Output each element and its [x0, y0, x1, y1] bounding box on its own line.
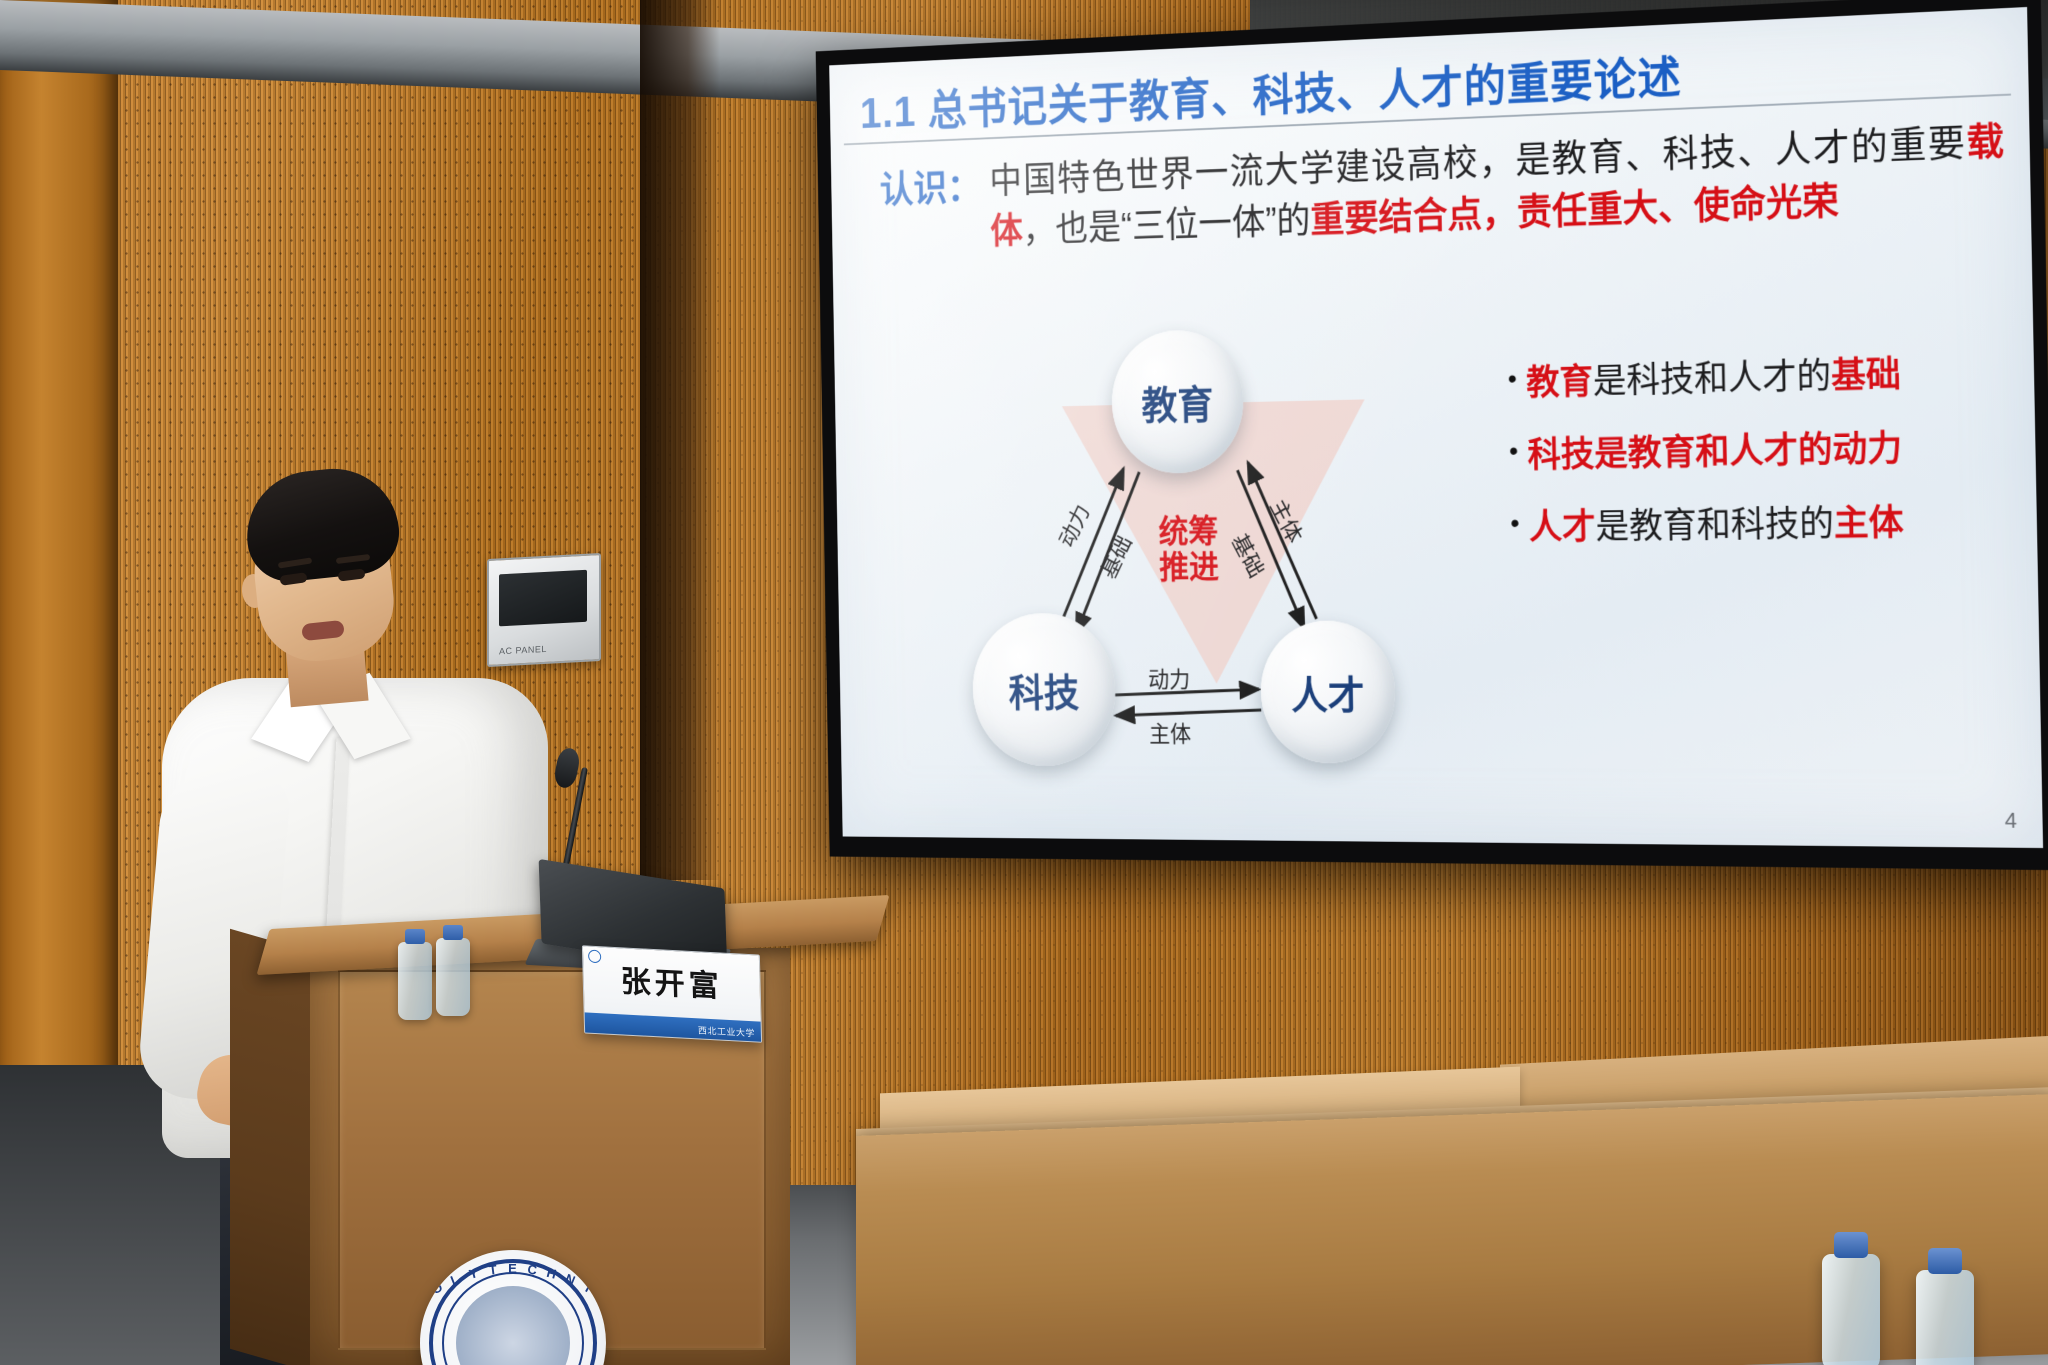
foreground-water-bottle[interactable]: [1822, 1254, 1880, 1365]
bottle-cap: [443, 925, 463, 940]
bullet-text: 科技是教育和人才的动力: [1527, 424, 1996, 477]
bullet-text: 教育是科技和人才的基础: [1526, 349, 1995, 404]
bullet-red-b: 基础: [1831, 354, 1901, 396]
nameplate-org: 西北工业大学: [698, 1023, 755, 1039]
bullet-dot: •: [1501, 506, 1529, 541]
display-bezel: 1.1 总书记关于教育、科技、人才的重要论述 认识： 中国特色世界一流大学建设高…: [816, 0, 2048, 870]
slide-keyword-label: 认识：: [879, 156, 981, 213]
bullet-dot: •: [1500, 433, 1528, 469]
edge-label-bottom-upper: 动力: [1148, 661, 1191, 694]
speaker-hair: [241, 462, 403, 585]
wall-shadow-column: [640, 0, 720, 880]
water-bottle[interactable]: [436, 938, 470, 1016]
center-label-line2: 推进: [1132, 550, 1247, 587]
body-plain-b: ，也是“三位一体”的: [1022, 200, 1310, 250]
slide-page-number: 4: [2005, 808, 2018, 834]
logo-text: NORTHWESTERN POLYTECHNICAL UNIVERSITY: [420, 1250, 606, 1365]
bullet-red-b: 主体: [1834, 502, 1904, 543]
foreground-water-bottle[interactable]: [1916, 1270, 1974, 1365]
podium-side-panel: [230, 929, 322, 1365]
bullet-item: • 人才是教育和科技的主体: [1501, 499, 1998, 550]
presentation-scene: AC PANEL 1.1 总书记关于教育、科技、人才的重要论述 认识： 中国特色…: [0, 0, 2048, 1365]
bottle-cap: [405, 929, 425, 944]
bullet-red-a: 人才: [1529, 507, 1596, 547]
triangle-relationship-diagram: 教育 科技 人才 统筹 推进 动力 基础 主体 基础: [960, 323, 1442, 773]
bottle-cap: [1928, 1248, 1962, 1274]
node-label-talent: 人才: [1291, 663, 1365, 720]
slide-surface: 1.1 总书记关于教育、科技、人才的重要论述 认识： 中国特色世界一流大学建设高…: [829, 7, 2043, 848]
lectern-podium: NORTHWESTERN POLYTECHNICAL UNIVERSITY: [268, 912, 878, 1365]
node-label-education: 教育: [1141, 373, 1214, 431]
nameplate-name: 张开富: [583, 954, 760, 1007]
slide-bullet-list: • 教育是科技和人才的基础 • 科技是教育和人才的动力 • 人才是教育和科技的主…: [1498, 349, 1998, 578]
bullet-dot: •: [1498, 361, 1526, 397]
speaker-nameplate: 张开富 西北工业大学: [582, 945, 762, 1042]
university-logo: NORTHWESTERN POLYTECHNICAL UNIVERSITY: [420, 1250, 606, 1365]
node-label-technology: 科技: [1008, 662, 1079, 718]
edge-label-bottom-lower: 主体: [1149, 716, 1192, 749]
bullet-red-a: 科技是教育和人才的动力: [1527, 428, 1902, 475]
bullet-text: 人才是教育和科技的主体: [1529, 499, 1998, 549]
bullet-item: • 教育是科技和人才的基础: [1498, 349, 1995, 405]
bullet-plain: 是科技和人才的: [1593, 355, 1832, 401]
presentation-display[interactable]: 1.1 总书记关于教育、科技、人才的重要论述 认识： 中国特色世界一流大学建设高…: [816, 0, 2048, 870]
bullet-plain: 是教育和科技的: [1595, 503, 1834, 546]
bullet-item: • 科技是教育和人才的动力: [1500, 424, 1997, 477]
bullet-red-a: 教育: [1526, 361, 1593, 402]
bottle-cap: [1834, 1232, 1868, 1258]
slide-body-text: 中国特色世界一流大学建设高校，是教育、科技、人才的重要载体，也是“三位一体”的重…: [989, 116, 2005, 258]
body-red-b: 重要结合点，责任重大、使命光荣: [1310, 181, 1839, 240]
water-bottle[interactable]: [398, 942, 432, 1020]
